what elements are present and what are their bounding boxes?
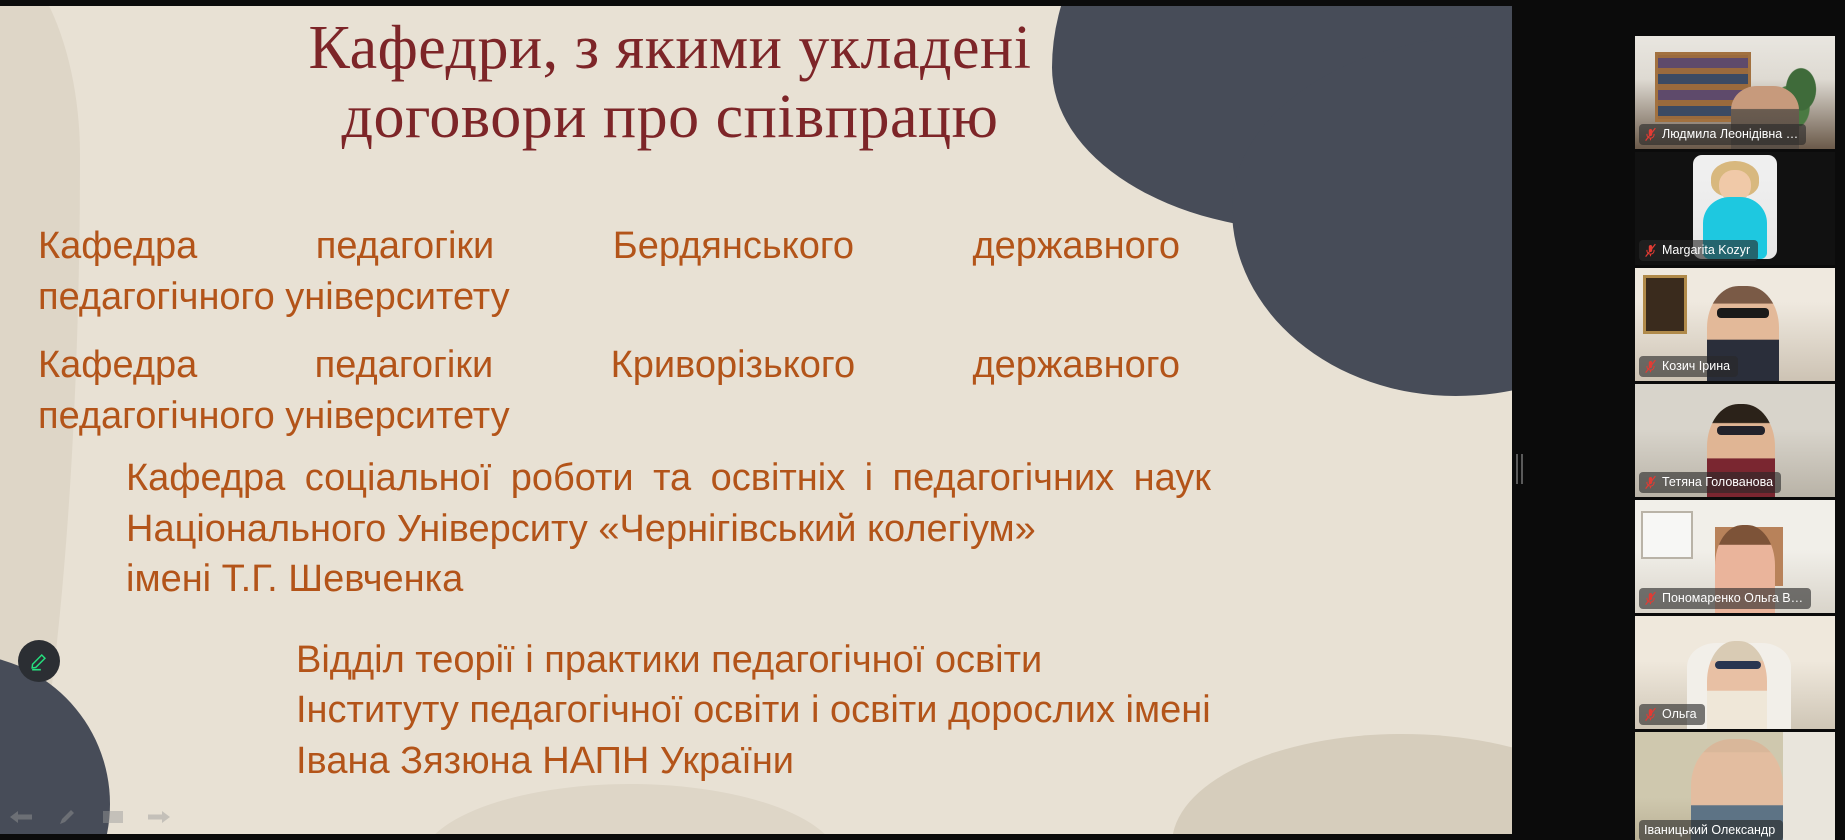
participant-tile[interactable]: Іваницький Олександр [1635, 732, 1835, 840]
participant-nametag: Пономаренко Ольга В… [1639, 588, 1811, 609]
slide-text-word: освітніх [711, 453, 846, 504]
slide-title-line: договори про співпрацю [110, 83, 1230, 152]
slide-menu-button[interactable] [98, 806, 128, 828]
annotate-button[interactable] [18, 640, 60, 682]
slide-text-word: соціальної [305, 453, 492, 504]
arrow-right-icon [146, 809, 172, 825]
drag-handle-bar [1521, 454, 1523, 484]
participant-tile[interactable]: Козич Ірина [1635, 268, 1835, 381]
slideshow-controls[interactable] [0, 800, 240, 834]
slide-text-line: Івана Зязюна НАПН України [296, 736, 1230, 787]
mic-muted-icon [1644, 243, 1657, 258]
participant-tile[interactable]: Пономаренко Ольга В… [1635, 500, 1835, 613]
slide-text-line: КафедрапедагогікиБердянськогодержавного [38, 221, 1180, 272]
participant-nametag: Іваницький Олександр [1639, 820, 1783, 840]
participant-name: Margarita Kozyr [1662, 242, 1750, 258]
participant-nametag: Людмила Леонідівна … [1639, 124, 1806, 145]
slide-text-word: педагогіки [315, 340, 494, 391]
slide-paragraph: КафедрапедагогікиБердянськогодержавногоп… [0, 221, 1180, 322]
slide-text-word: педагогічних [893, 453, 1115, 504]
participant-nametag: Ольга [1639, 704, 1705, 725]
slide-text-word: Бердянського [613, 221, 854, 272]
participant-name: Ольга [1662, 706, 1697, 722]
mic-muted-icon [1644, 707, 1657, 722]
slide-text-word: Кафедра [38, 221, 197, 272]
slide-text-word: педагогіки [316, 221, 495, 272]
slide-title-line: Кафедри, з якими укладені [110, 14, 1230, 83]
participant-video-strip[interactable]: Людмила Леонідівна …Margarita KozyrКозич… [1545, 0, 1845, 840]
participant-tile[interactable]: Людмила Леонідівна … [1635, 36, 1835, 149]
participant-nametag: Тетяна Голованова [1639, 472, 1781, 493]
slide-text-line: Національного Університу «Чернігівський … [126, 504, 1180, 555]
slide-paragraph: КафедрапедагогікиКриворізькогодержавного… [0, 340, 1180, 441]
participant-nametag: Козич Ірина [1639, 356, 1738, 377]
slide-text-word: наук [1134, 453, 1211, 504]
slide-menu-icon [102, 809, 124, 825]
slide-text-word: Кафедра [126, 453, 285, 504]
slide-text-line: Інституту педагогічної освіти і освіти д… [296, 685, 1230, 736]
pen-icon [57, 807, 77, 827]
slide-text-line: Відділ теорії і практики педагогічної ос… [296, 635, 1230, 686]
participant-name: Людмила Леонідівна … [1662, 126, 1798, 142]
mic-muted-icon [1644, 127, 1657, 142]
slide-text-word: роботи [511, 453, 634, 504]
mic-muted-icon [1644, 475, 1657, 490]
slide-text-line: педагогічного університету [38, 391, 1180, 442]
participant-name: Іваницький Олександр [1644, 822, 1775, 838]
mic-muted-icon [1644, 359, 1657, 374]
slide-text-word: Криворізького [611, 340, 856, 391]
previous-slide-button[interactable] [6, 806, 36, 828]
slide-title: Кафедри, з якими укладенідоговори про сп… [110, 14, 1230, 153]
slide-text-line: імені Т.Г. Шевченка [126, 554, 1180, 605]
pencil-icon [28, 650, 50, 672]
slide-text-line: педагогічного університету [38, 272, 1180, 323]
zoom-meeting-window: Кафедри, з якими укладенідоговори про сп… [0, 0, 1845, 840]
slide-body: КафедрапедагогікиБердянськогодержавногоп… [0, 221, 1460, 794]
drag-handle-bar [1516, 454, 1518, 484]
next-slide-button[interactable] [144, 806, 174, 828]
slide-text-word: державного [973, 340, 1180, 391]
slide-paragraph: Відділ теорії і практики педагогічної ос… [0, 635, 1230, 787]
slide-text-line: Кафедрасоціальноїроботитаосвітніхіпедаго… [126, 453, 1211, 504]
participant-name: Тетяна Голованова [1662, 474, 1773, 490]
slide-text-word: та [653, 453, 691, 504]
participant-name: Пономаренко Ольга В… [1662, 590, 1803, 606]
slide-paragraph: Кафедрасоціальноїроботитаосвітніхіпедаго… [0, 453, 1180, 605]
slide-text-line: КафедрапедагогікиКриворізькогодержавного [38, 340, 1180, 391]
participant-tile[interactable]: Ольга [1635, 616, 1835, 729]
slide-text-word: і [865, 453, 873, 504]
arrow-left-icon [8, 809, 34, 825]
participant-name: Козич Ірина [1662, 358, 1730, 374]
resize-share-panel-handle[interactable] [1513, 452, 1525, 486]
slide-text-word: державного [973, 221, 1180, 272]
slide-text-word: Кафедра [38, 340, 197, 391]
participant-nametag: Margarita Kozyr [1639, 240, 1758, 261]
participant-tile[interactable]: Margarita Kozyr [1635, 152, 1835, 265]
presentation-slide: Кафедри, з якими укладенідоговори про сп… [0, 6, 1512, 834]
pen-tool-button[interactable] [52, 806, 82, 828]
shared-screen-region[interactable]: Кафедри, з якими укладенідоговори про сп… [0, 0, 1512, 840]
participant-tile[interactable]: Тетяна Голованова [1635, 384, 1835, 497]
mic-muted-icon [1644, 591, 1657, 606]
